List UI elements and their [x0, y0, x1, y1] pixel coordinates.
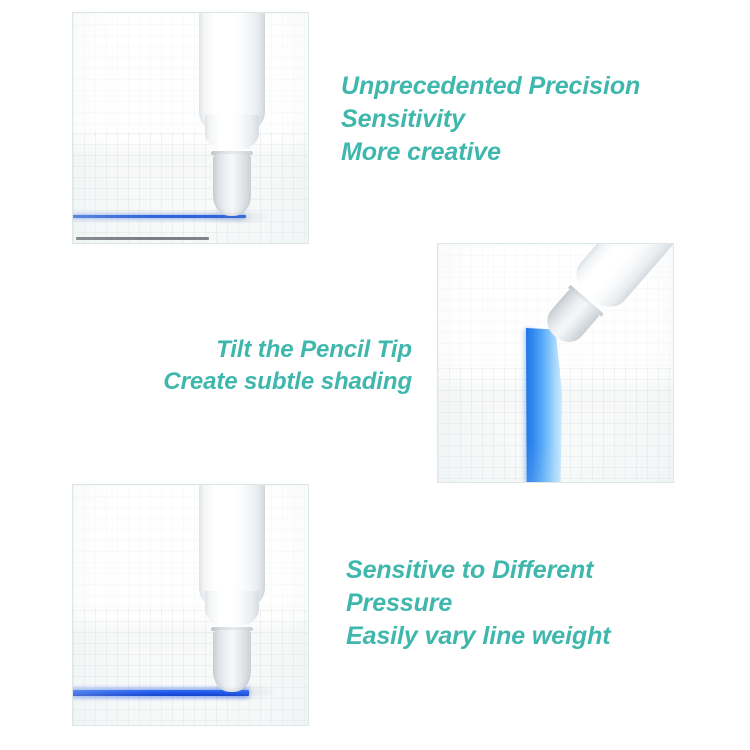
thin-gray-line: [76, 237, 209, 240]
pressure-caption: Sensitive to Different Pressure Easily v…: [346, 554, 611, 653]
precision-caption-line-3: More creative: [341, 136, 640, 169]
apple-pencil-upright: [199, 484, 265, 697]
panel-grid-lower: [73, 610, 308, 725]
tilt-shading-caption-line-1: Tilt the Pencil Tip: [60, 334, 412, 366]
product-feature-graphic: Unprecedented Precision Sensitivity More…: [0, 0, 750, 750]
apple-pencil-upright: [199, 12, 265, 221]
precision-caption-line-2: Sensitivity: [341, 103, 640, 136]
pencil-taper: [205, 591, 259, 627]
precision-demo-panel: [72, 12, 309, 244]
pencil-taper: [205, 115, 259, 151]
pressure-demo-panel: [72, 484, 309, 726]
precision-caption: Unprecedented Precision Sensitivity More…: [341, 70, 640, 169]
tilt-shading-caption-line-2: Create subtle shading: [60, 366, 412, 398]
panel-grid-upper: [73, 13, 308, 137]
pressure-caption-line-2: Pressure: [346, 587, 611, 620]
pressure-caption-line-3: Easily vary line weight: [346, 620, 611, 653]
pressure-caption-line-1: Sensitive to Different: [346, 554, 611, 587]
shading-swath-glow: [524, 328, 534, 483]
tilt-shading-demo-panel: [437, 243, 674, 483]
panel-grid-upper: [73, 485, 308, 615]
tilt-shading-caption: Tilt the Pencil Tip Create subtle shadin…: [60, 334, 412, 397]
pencil-nib: [213, 630, 251, 692]
precision-caption-line-1: Unprecedented Precision: [341, 70, 640, 103]
panel-grid-lower: [73, 133, 308, 243]
pencil-nib: [213, 154, 251, 216]
